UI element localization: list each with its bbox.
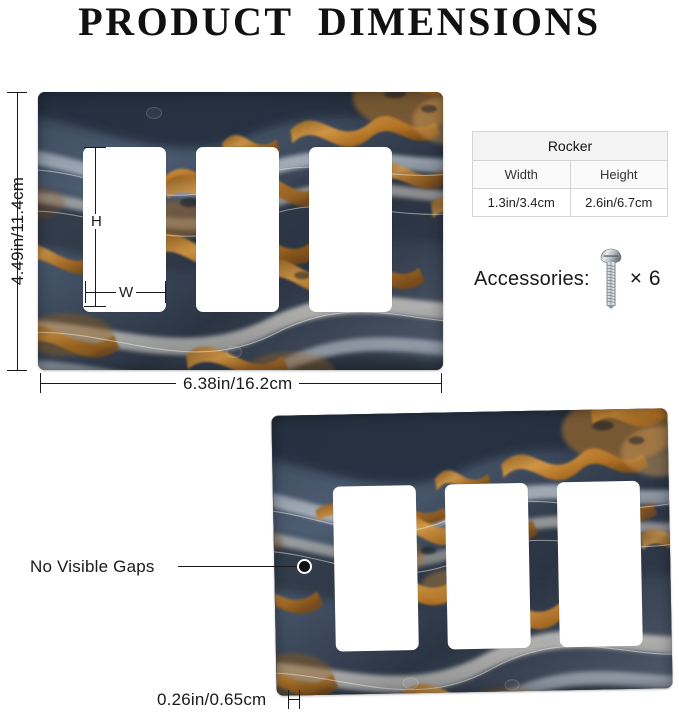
product-dimensions-infographic: PRODUCT DIMENSIONS bbox=[0, 0, 679, 716]
rocker-width-letter: W bbox=[116, 285, 136, 300]
rocker-opening-4 bbox=[333, 485, 419, 652]
height-dim-cap-bottom bbox=[7, 370, 27, 371]
screw-dimple-icon bbox=[226, 346, 242, 358]
width-dim-cap-right bbox=[441, 373, 442, 393]
table-col-height: Height bbox=[570, 161, 668, 189]
table-value-height: 2.6in/6.7cm bbox=[570, 189, 668, 217]
table-value-width: 1.3in/3.4cm bbox=[473, 189, 571, 217]
thickness-cap-right bbox=[299, 690, 300, 709]
accessories-count: × 6 bbox=[630, 267, 661, 291]
plate-width-label: 6.38in/16.2cm bbox=[176, 374, 299, 394]
table-col-width: Width bbox=[473, 161, 571, 189]
rocker-height-letter: H bbox=[88, 214, 105, 229]
rocker-opening-2 bbox=[196, 147, 279, 312]
screw-dimple-icon bbox=[146, 107, 162, 119]
wall-plate-angled-view bbox=[271, 408, 672, 696]
callout-target-dot bbox=[297, 559, 312, 574]
accessories-row: Accessories: bbox=[474, 248, 661, 310]
rocker-opening-6 bbox=[557, 481, 643, 648]
rocker-height-cap-bottom bbox=[84, 306, 106, 307]
plate-thickness-label: 0.26in/0.65cm bbox=[157, 690, 266, 710]
page-title: PRODUCT DIMENSIONS bbox=[0, 0, 679, 44]
rocker-spec-table: Rocker Width Height 1.3in/3.4cm 2.6in/6.… bbox=[472, 131, 668, 217]
no-visible-gaps-label: No Visible Gaps bbox=[30, 557, 155, 577]
table-column-header-row: Width Height bbox=[473, 161, 668, 189]
table-header-row: Rocker bbox=[473, 132, 668, 161]
plate-height-label: 4.49in/11.4cm bbox=[8, 171, 28, 291]
table-value-row: 1.3in/3.4cm 2.6in/6.7cm bbox=[473, 189, 668, 217]
wall-plate-front-view bbox=[38, 92, 443, 370]
rocker-width-cap-right bbox=[165, 281, 166, 303]
screw-icon bbox=[599, 248, 623, 310]
accessories-label: Accessories: bbox=[474, 268, 590, 291]
callout-leader-line bbox=[178, 566, 300, 567]
rocker-opening-5 bbox=[445, 483, 531, 650]
table-header-rocker: Rocker bbox=[473, 132, 668, 161]
rocker-opening-3 bbox=[309, 147, 392, 312]
